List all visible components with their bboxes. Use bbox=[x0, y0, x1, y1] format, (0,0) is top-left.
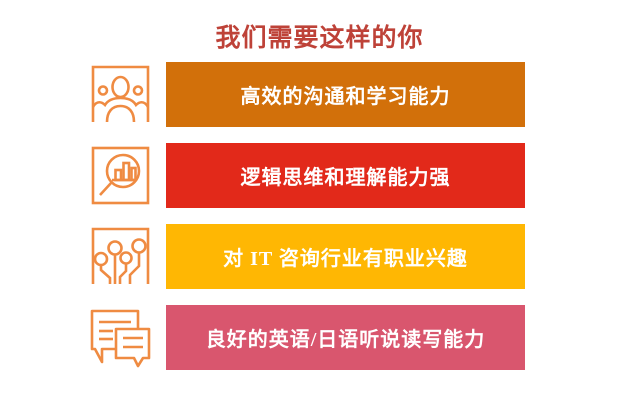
requirement-bar: 良好的英语/日语听说读写能力 bbox=[166, 305, 525, 370]
list-item: 逻辑思维和理解能力强 bbox=[0, 143, 639, 208]
list-item: 高效的沟通和学习能力 bbox=[0, 62, 639, 127]
requirement-label: 高效的沟通和学习能力 bbox=[241, 80, 451, 109]
list-item: 对 IT 咨询行业有职业兴趣 bbox=[0, 224, 639, 289]
requirement-bar: 高效的沟通和学习能力 bbox=[166, 62, 525, 127]
list-item: 良好的英语/日语听说读写能力 bbox=[0, 305, 639, 370]
requirement-label: 逻辑思维和理解能力强 bbox=[241, 161, 451, 190]
requirement-bar: 逻辑思维和理解能力强 bbox=[166, 143, 525, 208]
group-people-icon bbox=[88, 62, 153, 127]
page-title: 我们需要这样的你 bbox=[0, 18, 639, 54]
speech-bubbles-icon bbox=[88, 305, 153, 370]
slide-canvas: 我们需要这样的你 高效的沟通和学习能力 bbox=[0, 0, 639, 420]
magnifier-bar-chart-icon bbox=[88, 143, 153, 208]
circuit-board-icon bbox=[88, 224, 153, 289]
requirement-label: 对 IT 咨询行业有职业兴趣 bbox=[223, 242, 468, 271]
requirement-bar: 对 IT 咨询行业有职业兴趣 bbox=[166, 224, 525, 289]
requirements-list: 高效的沟通和学习能力 逻辑思维和理 bbox=[0, 62, 639, 386]
requirement-label: 良好的英语/日语听说读写能力 bbox=[206, 323, 486, 352]
